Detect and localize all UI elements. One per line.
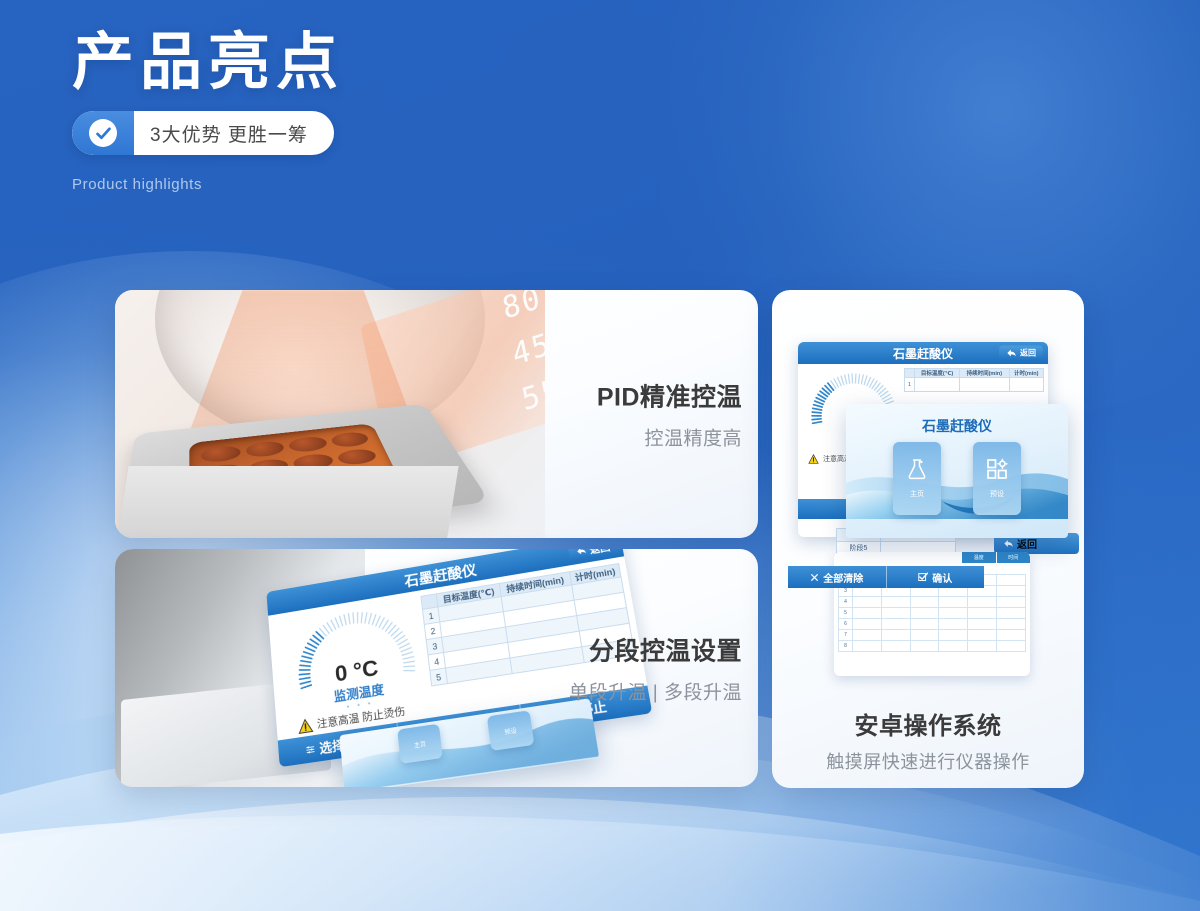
well [329, 431, 370, 448]
page-title: 产品亮点 [72, 26, 344, 97]
android-cell-duration[interactable] [960, 378, 1009, 392]
android-header-time: 计时(min) [1009, 369, 1043, 378]
grid-row[interactable]: 6 [839, 619, 1026, 630]
feature-card-pid: 80 45 55 石墨赶酸仪 PID精准控温 控温精度高 [115, 290, 758, 538]
android-topbar: 石墨赶酸仪 返回 [798, 342, 1048, 364]
grid-index: 8 [839, 641, 853, 652]
grid-row[interactable]: 4 [839, 597, 1026, 608]
android-cell-temp[interactable] [915, 378, 960, 392]
back-arrow-icon [575, 549, 588, 557]
confirm-label: 确认 [932, 570, 952, 585]
grid-index: 4 [839, 597, 853, 608]
check-icon [95, 125, 112, 142]
clear-all-label: 全部清除 [823, 570, 863, 585]
segment-card-text: 分段控温设置 单段升温 | 多段升温 [512, 632, 742, 705]
sliders-icon [305, 743, 315, 754]
feature-card-android-os: 石墨赶酸仪 返回 注意高温 防止烫伤 目标温度(℃ [772, 290, 1084, 788]
pid-card-subtitle: 控温精度高 [512, 424, 742, 451]
android-row-index: 1 [905, 378, 915, 392]
page-subtitle-english: Product highlights [72, 176, 344, 193]
back-arrow-icon [1003, 538, 1014, 549]
advantage-badge: 3大优势 更胜一筹 [72, 111, 334, 155]
back-button-label: 返回 [589, 549, 611, 556]
android-back-button[interactable]: 返回 [999, 346, 1043, 361]
android-segment-table: 目标温度(℃) 持续时间(min) 计时(min) 1 [904, 368, 1044, 392]
confirm-bar: 全部清除 确认 [788, 566, 984, 588]
pid-card-text: PID精准控温 控温精度高 [512, 378, 742, 451]
flask-icon [905, 457, 929, 481]
mini-header-temp: 温度 [962, 552, 996, 563]
grid-row[interactable]: 8 [839, 641, 1026, 652]
android-mini-header: 温度 时间 [962, 552, 1030, 563]
grid-row[interactable]: 5 [839, 608, 1026, 619]
segment-card-subtitle: 单段升温 | 多段升温 [512, 678, 742, 705]
home-tile-preset[interactable]: 预设 [973, 442, 1021, 515]
home-tile-main[interactable]: 主页 [893, 442, 941, 515]
android-index-header [905, 369, 915, 378]
grid-index: 5 [839, 608, 853, 619]
device-app-title: 石墨赶酸仪 [403, 559, 477, 590]
android-card-subtitle: 触摸屏快速进行仪器操作 [772, 748, 1084, 774]
grid-index: 7 [839, 630, 853, 641]
product-photo-heating-block: 80 45 55 石墨赶酸仪 [115, 290, 545, 538]
well [245, 440, 285, 458]
android-app-title: 石墨赶酸仪 [893, 345, 953, 362]
well [287, 435, 328, 453]
back-arrow-icon [1006, 348, 1017, 359]
android-cell-time[interactable] [1009, 378, 1043, 392]
android-back-label: 返回 [1020, 348, 1036, 359]
android-card-text: 安卓操作系统 触摸屏快速进行仪器操作 [772, 706, 1084, 774]
home-tile-main-label: 主页 [910, 489, 924, 499]
segment-row-index: 5 [430, 668, 448, 686]
grid-settings-icon [985, 457, 1009, 481]
feature-card-segmented-control: 石墨赶酸仪 返回 0 °C 监测温度 • • • [115, 549, 758, 787]
home-tile-preset-label: 预设 [504, 726, 518, 737]
home-tile-main[interactable]: 主页 [397, 724, 443, 764]
stage-back-label: 返回 [1017, 536, 1037, 551]
android-segment-table-wrapper: 目标温度(℃) 持续时间(min) 计时(min) 1 [904, 368, 1044, 392]
badge-icon-area [72, 111, 134, 155]
warning-triangle-icon [297, 717, 313, 734]
badge-label: 3大优势 更胜一筹 [134, 111, 334, 155]
segment-card-title: 分段控温设置 [512, 632, 742, 668]
home-tile-preset[interactable]: 预设 [487, 711, 535, 752]
android-home-screen: 石墨赶酸仪 主页 预设 [846, 404, 1068, 538]
android-header-target-temp: 目标温度(℃) [915, 369, 960, 378]
pid-card-title: PID精准控温 [512, 378, 742, 414]
home-screen-title: 石墨赶酸仪 [846, 416, 1068, 436]
photo-instrument-base: 石墨赶酸仪 [115, 466, 459, 538]
checkbox-check-icon [918, 572, 928, 582]
home-tile-main-label: 主页 [413, 739, 426, 750]
android-segment-header-row: 目标温度(℃) 持续时间(min) 计时(min) [905, 369, 1044, 378]
warning-triangle-icon [808, 454, 819, 464]
page-header: 产品亮点 3大优势 更胜一筹 Product highlights [72, 26, 344, 193]
back-button[interactable]: 返回 [567, 549, 618, 562]
android-card-title: 安卓操作系统 [772, 706, 1084, 741]
close-x-icon [810, 573, 819, 582]
well [201, 445, 241, 463]
android-segment-row[interactable]: 1 [905, 378, 1044, 392]
home-tile-preset-label: 预设 [990, 489, 1004, 499]
well [335, 448, 378, 467]
background-wave-lower [0, 800, 1200, 911]
confirm-button[interactable]: 确认 [887, 566, 985, 588]
clear-all-button[interactable]: 全部清除 [788, 566, 887, 588]
check-circle-icon [89, 119, 117, 147]
grid-row[interactable]: 7 [839, 630, 1026, 641]
android-header-duration: 持续时间(min) [960, 369, 1009, 378]
home-tiles: 主页 预设 [846, 442, 1068, 515]
mini-header-time: 时间 [996, 552, 1031, 563]
grid-index: 6 [839, 619, 853, 630]
